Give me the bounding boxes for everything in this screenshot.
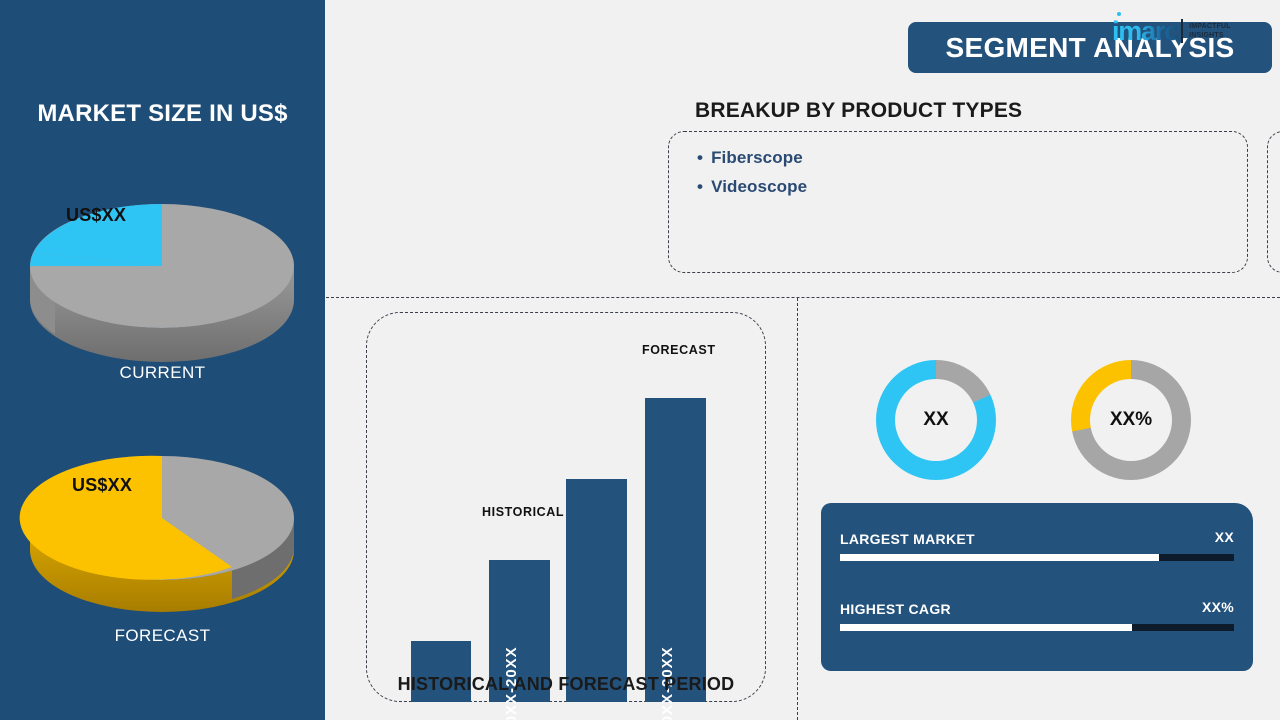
highest-cagr-label: HIGHEST CAGR: [840, 601, 951, 617]
market-size-sidebar: MARKET SIZE IN US$ US$XX CURRENT: [0, 0, 325, 720]
growth-rate-box: CAGR XX% (20XX-20XX): [1267, 131, 1280, 273]
forecast-market-size-pie: US$XX FORECAST: [0, 432, 325, 637]
forecast-pie-value: US$XX: [72, 475, 132, 496]
largest-market-value: XX: [1215, 529, 1234, 545]
bar-chart-caption: HISTORICAL AND FORECAST PERIOD: [366, 674, 766, 695]
horizontal-divider: [326, 297, 1280, 298]
sidebar-title: MARKET SIZE IN US$: [0, 100, 325, 128]
highest-cagr-progress-track: [840, 624, 1234, 631]
list-item: Fiberscope: [697, 143, 807, 172]
bar-3: [566, 479, 627, 702]
forecast-pie-label: FORECAST: [0, 626, 325, 646]
share-percent-donut: XX%: [1071, 360, 1191, 480]
logo-dot-icon: [1117, 12, 1121, 16]
share-percent-donut-label: XX%: [1110, 409, 1152, 431]
market-value-donut: XX: [876, 360, 996, 480]
header-region: SEGMENT ANALYSIS imarc IMPACTFUL INSIGHT…: [325, 0, 1280, 298]
breakup-heading: BREAKUP BY PRODUCT TYPES: [695, 99, 1022, 123]
vertical-divider: [797, 298, 798, 720]
current-pie-value: US$XX: [66, 205, 126, 226]
bar-4: 20XX-20XX: [645, 398, 706, 702]
logo-tagline-line2: INSIGHTS: [1189, 31, 1231, 40]
largest-market-progress-fill: [840, 554, 1159, 561]
logo-tagline-line1: IMPACTFUL: [1189, 22, 1231, 31]
list-item: Videoscope: [697, 172, 807, 201]
historical-and-forecast-period-bars: 20XX-20XX HISTORICAL 20XX-20XX FORECAST: [366, 312, 766, 702]
growth-rate-heading: GROWTH RATE: [1267, 99, 1280, 123]
product-types-list: Fiberscope Videoscope: [697, 143, 807, 201]
market-value-donut-center: XX: [895, 379, 977, 461]
key-stats-panel: LARGEST MARKET XX HIGHEST CAGR XX%: [821, 503, 1253, 671]
logo-wordmark: imarc: [1112, 18, 1178, 45]
largest-market-label: LARGEST MARKET: [840, 531, 975, 547]
current-pie-svg: [0, 160, 325, 370]
historical-annotation: HISTORICAL: [482, 505, 564, 519]
current-pie-label: CURRENT: [0, 363, 325, 383]
largest-market-progress-track: [840, 554, 1234, 561]
forecast-annotation: FORECAST: [642, 343, 716, 357]
highest-cagr-progress-fill: [840, 624, 1132, 631]
logo-tagline: IMPACTFUL INSIGHTS: [1189, 22, 1231, 41]
forecast-pie-svg: [0, 432, 325, 632]
share-percent-donut-center: XX%: [1090, 379, 1172, 461]
breakup-by-product-types-box: Fiberscope Videoscope: [668, 131, 1248, 273]
imarc-logo: imarc IMPACTFUL INSIGHTS: [1112, 10, 1262, 52]
logo-divider: [1181, 19, 1183, 43]
highest-cagr-value: XX%: [1202, 599, 1234, 615]
current-market-size-pie: US$XX CURRENT: [0, 160, 325, 375]
market-value-donut-label: XX: [923, 409, 948, 431]
